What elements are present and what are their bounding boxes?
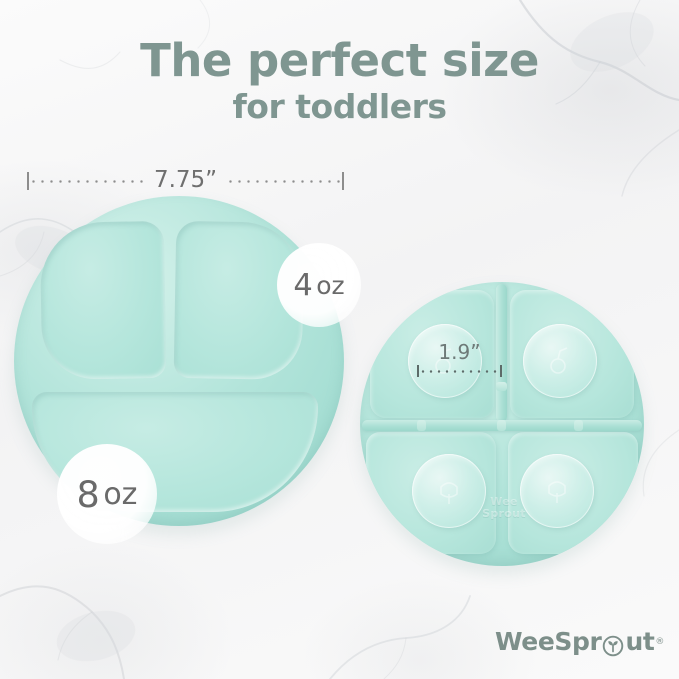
suction-cup-mark xyxy=(432,474,466,508)
measure-dots-right xyxy=(226,180,342,183)
measure-cap-right xyxy=(500,365,502,377)
capacity-badge-4oz-number: 4 xyxy=(293,268,313,303)
registered-trademark-symbol: ® xyxy=(655,637,664,647)
product-image-canvas: The perfect size for toddlers 7.75” xyxy=(0,0,679,679)
capacity-badge-8oz: 8 oz xyxy=(57,444,157,544)
capacity-badge-8oz-number: 8 xyxy=(77,473,101,516)
capacity-badge-8oz-unit: oz xyxy=(103,477,137,512)
toddler-plate-back-view: Wee Sprout xyxy=(360,282,644,566)
compartment-top-left xyxy=(40,221,167,380)
plate-diameter-measure: 7.75” xyxy=(27,168,344,194)
page-title-line-1: The perfect size xyxy=(0,36,679,86)
ridge-notch-center xyxy=(497,420,506,431)
capacity-badge-4oz: 4 oz xyxy=(277,243,361,327)
page-title-line-2: for toddlers xyxy=(0,88,679,126)
suction-cup-diameter-measure: 1.9” xyxy=(417,340,502,380)
sprout-icon xyxy=(602,634,624,656)
measure-dots-left xyxy=(29,180,145,183)
brand-logo-text-wee: Wee xyxy=(495,627,554,656)
plate-diameter-label: 7.75” xyxy=(145,167,226,193)
suction-cup-diameter-label: 1.9” xyxy=(438,340,480,364)
embossed-brand-mark: Wee Sprout xyxy=(464,496,544,520)
brand-logo-text-ut: ut xyxy=(625,627,654,656)
suction-cup-top-right xyxy=(523,324,597,398)
brand-logo-text-spr: Spr xyxy=(554,627,601,656)
measure-cap-right xyxy=(342,172,344,190)
suction-cup-measure-rule xyxy=(417,365,502,377)
suction-cup-mark xyxy=(540,474,574,508)
measure-dots xyxy=(419,370,500,373)
suction-cup-mark xyxy=(543,344,577,378)
ridge-notch-upper xyxy=(496,382,507,391)
capacity-badge-4oz-unit: oz xyxy=(316,271,344,300)
brand-logo: WeeSpr ut® xyxy=(495,627,664,656)
emboss-line-2: Sprout xyxy=(464,508,544,520)
